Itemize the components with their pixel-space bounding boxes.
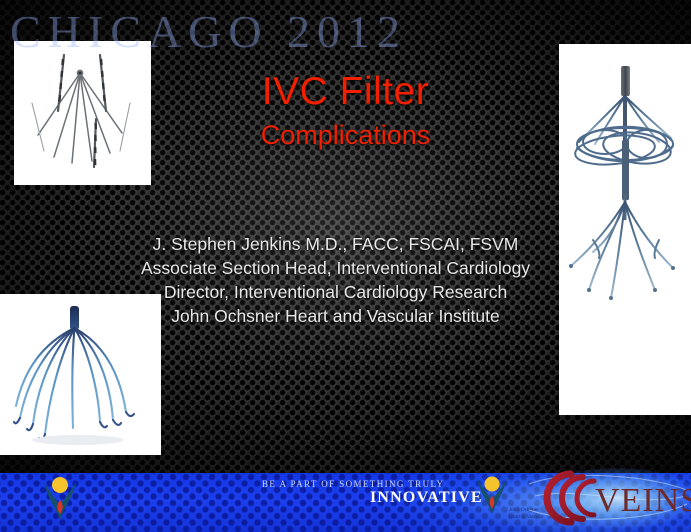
author-name: J. Stephen Jenkins M.D., FACC, FSCAI, FS…	[90, 232, 581, 256]
ivc-filter-photo-top-left	[14, 41, 151, 185]
author-title-1: Associate Section Head, Interventional C…	[90, 256, 581, 280]
author-block: J. Stephen Jenkins M.D., FACC, FSCAI, FS…	[90, 232, 581, 328]
chicago-watermark: CHICAGO 2012	[10, 9, 407, 55]
author-title-2: Director, Interventional Cardiology Rese…	[90, 280, 581, 304]
veins-conference-logo: VEINS	[525, 464, 691, 532]
veins-logo-text: VEINS	[595, 482, 691, 519]
chicago-conference-logo-icon	[36, 474, 88, 526]
presentation-slide: IVC Filter Complications J. Stephen Jenk…	[0, 0, 691, 532]
author-institution: John Ochsner Heart and Vascular Institut…	[90, 304, 581, 328]
ivc-filter-photo-right	[559, 44, 691, 415]
footer-tagline-small: BE A PART OF SOMETHING TRULY	[262, 479, 444, 489]
